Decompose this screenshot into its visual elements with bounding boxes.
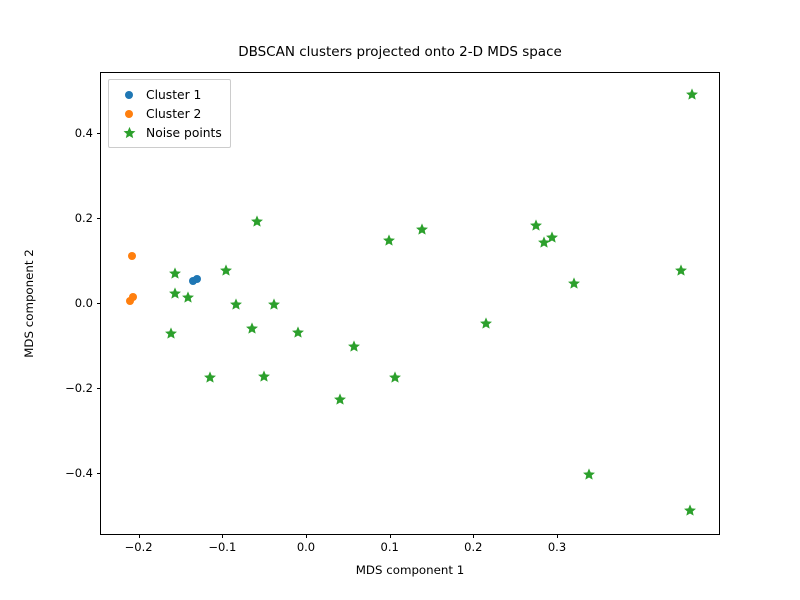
data-point [334, 393, 347, 406]
star-marker-icon [115, 126, 143, 139]
legend: Cluster 1Cluster 2Noise points [108, 79, 231, 148]
y-axis-tick-label: 0.4 [75, 126, 93, 140]
data-point [530, 218, 543, 231]
data-point [164, 327, 177, 340]
legend-item-label: Cluster 2 [143, 107, 201, 121]
circle-marker-icon [115, 110, 143, 118]
x-axis-tick [473, 534, 474, 538]
data-point [292, 326, 305, 339]
data-point [267, 298, 280, 311]
x-axis-tick-label: −0.1 [208, 540, 236, 554]
data-point [129, 293, 137, 301]
y-axis-tick [97, 388, 101, 389]
x-axis-tick-label: 0.0 [297, 540, 315, 554]
y-axis-tick [97, 473, 101, 474]
x-axis-tick [139, 534, 140, 538]
data-point [568, 276, 581, 289]
data-point [203, 371, 216, 384]
y-axis-tick-label: −0.2 [65, 381, 93, 395]
data-point [583, 467, 596, 480]
x-axis-tick-label: −0.2 [125, 540, 153, 554]
data-point [168, 267, 181, 280]
y-axis-label: MDS component 2 [22, 72, 42, 535]
data-point [348, 340, 361, 353]
data-point [219, 264, 232, 277]
legend-item-label: Cluster 1 [143, 88, 201, 102]
x-axis-tick [306, 534, 307, 538]
data-point [250, 215, 263, 228]
data-point [181, 291, 194, 304]
data-point [480, 317, 493, 330]
data-point [686, 87, 699, 100]
matplotlib-figure: DBSCAN clusters projected onto 2-D MDS s… [0, 0, 800, 600]
y-axis-tick-label: 0.2 [75, 211, 93, 225]
y-axis-tick [97, 303, 101, 304]
data-point [128, 252, 136, 260]
legend-item-1[interactable]: Cluster 1 [115, 85, 222, 104]
data-point [257, 370, 270, 383]
legend-item-3[interactable]: Noise points [115, 123, 222, 142]
data-point [675, 264, 688, 277]
data-point [229, 298, 242, 311]
legend-item-2[interactable]: Cluster 2 [115, 104, 222, 123]
data-point [193, 275, 201, 283]
y-axis-tick [97, 218, 101, 219]
data-point [684, 504, 697, 517]
x-axis-tick [390, 534, 391, 538]
y-axis-tick-label: −0.4 [65, 466, 93, 480]
circle-marker-icon [115, 91, 143, 99]
data-point [383, 234, 396, 247]
legend-item-label: Noise points [143, 126, 222, 140]
x-axis-label: MDS component 1 [100, 563, 720, 577]
data-point [389, 371, 402, 384]
y-axis-tick-label: 0.0 [75, 296, 93, 310]
y-axis-tick [97, 133, 101, 134]
x-axis-tick-label: 0.2 [464, 540, 482, 554]
x-axis-tick-label: 0.3 [548, 540, 566, 554]
x-axis-tick [222, 534, 223, 538]
data-point [546, 230, 559, 243]
data-point [245, 322, 258, 335]
x-axis-tick-label: 0.1 [381, 540, 399, 554]
data-point [416, 222, 429, 235]
page-title: DBSCAN clusters projected onto 2-D MDS s… [0, 44, 800, 60]
x-axis-tick [557, 534, 558, 538]
data-point [168, 287, 181, 300]
